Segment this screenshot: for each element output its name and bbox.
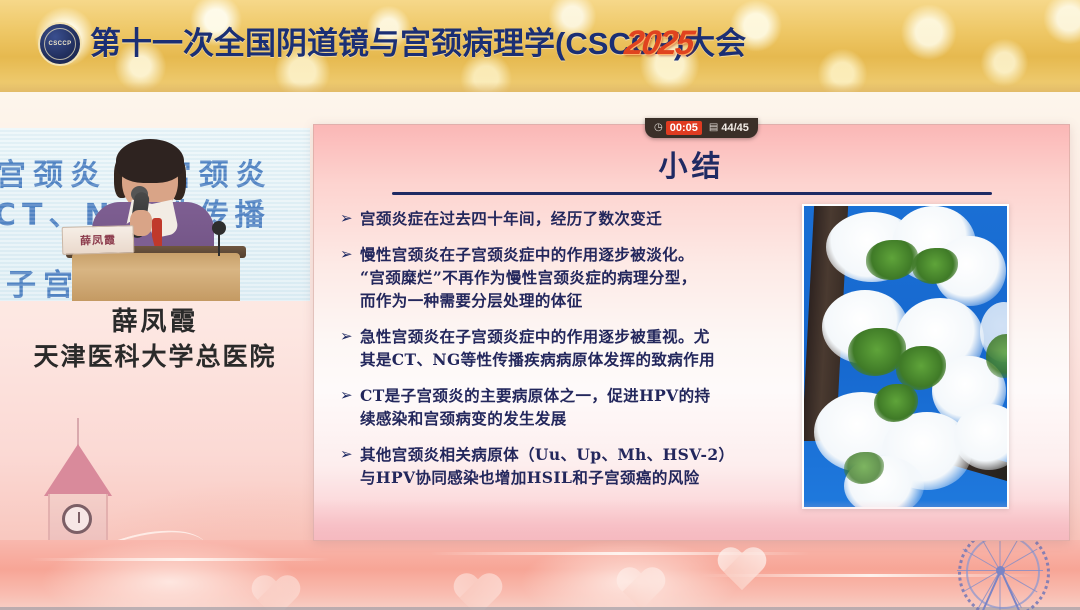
conference-banner: CSCCP 第十一次全国阴道镜与宫颈病理学(CSCCP)大会 2025 <box>0 0 1080 92</box>
csccp-logo-label: CSCCP <box>44 28 76 60</box>
bullet-text: 慢性宫颈炎在子宫颈炎症中的作用逐步被淡化。 “宫颈糜烂”不再作为慢性宫颈炎症的病… <box>360 243 788 312</box>
slide-bullet-list: ➢ 宫颈炎症在过去四十年间，经历了数次变迁 ➢ 慢性宫颈炎在子宫颈炎症中的作用逐… <box>340 207 788 502</box>
page-counter-group: ▤ 44/45 <box>709 122 749 134</box>
speaker-organization: 天津医科大学总医院 <box>0 339 310 375</box>
list-item: ➢ 宫颈炎症在过去四十年间，经历了数次变迁 <box>340 207 788 230</box>
tower-roof <box>44 444 112 496</box>
csccp-logo-icon: CSCCP <box>38 22 82 66</box>
list-item: ➢ CT是子宫颈炎的主要病原体之一，促进HPV的持 续感染和宫颈病变的发生发展 <box>340 384 788 430</box>
page-icon: ▤ <box>709 123 718 133</box>
podium <box>72 253 240 301</box>
speaker-name: 薛凤霞 <box>0 305 310 339</box>
slide-title-underline <box>392 192 992 195</box>
bullet-arrow-icon: ➢ <box>340 384 360 407</box>
bullet-text: 急性宫颈炎在子宫颈炎症中的作用逐步被重视。尤 其是CT、NG等性传播疾病病原体发… <box>360 325 788 371</box>
clock-icon: ◷ <box>654 123 663 133</box>
speaker-hair <box>116 139 184 183</box>
second-microphone-icon <box>212 221 226 235</box>
band-streak <box>30 558 330 561</box>
bullet-text: 宫颈炎症在过去四十年间，经历了数次变迁 <box>360 207 788 230</box>
heart-icon <box>716 548 768 596</box>
bullet-arrow-icon: ➢ <box>340 443 360 466</box>
tower-clock-icon <box>62 504 92 534</box>
slide-bottom-gradient <box>314 500 1069 540</box>
bullet-text: 其他宫颈炎相关病原体（Uu、Up、Mh、HSV-2） 与HPV协同感染也增加HS… <box>360 443 788 489</box>
heart-icon <box>615 568 655 604</box>
timer-group: ◷ 00:05 <box>654 121 702 135</box>
podium-nameplate: 薛凤霞 <box>62 225 135 255</box>
bullet-arrow-icon: ➢ <box>340 243 360 266</box>
screen-root: CSCCP 第十一次全国阴道镜与宫颈病理学(CSCCP)大会 2025 <box>0 0 1080 610</box>
ferris-wheel-illustration <box>932 545 1062 610</box>
heart-icon <box>452 574 486 604</box>
player-status-badge[interactable]: ◷ 00:05 ▤ 44/45 <box>645 118 758 138</box>
slide-photo-flowering-tree <box>802 204 1009 509</box>
timer-value: 00:05 <box>666 121 702 135</box>
list-item: ➢ 急性宫颈炎在子宫颈炎症中的作用逐步被重视。尤 其是CT、NG等性传播疾病病原… <box>340 325 788 371</box>
slide-title: 小结 <box>314 143 1069 185</box>
ferris-spoke <box>1000 570 1043 571</box>
bullet-arrow-icon: ➢ <box>340 325 360 348</box>
bottom-decorative-band <box>0 540 1080 610</box>
list-item: ➢ 慢性宫颈炎在子宫颈炎症中的作用逐步被淡化。 “宫颈糜烂”不再作为慢性宫颈炎症… <box>340 243 788 312</box>
list-item: ➢ 其他宫颈炎相关病原体（Uu、Up、Mh、HSV-2） 与HPV协同感染也增加… <box>340 443 788 489</box>
heart-icon <box>250 576 280 604</box>
ferris-spoke <box>957 570 1000 571</box>
presentation-slide[interactable]: 小结 ➢ 宫颈炎症在过去四十年间，经历了数次变迁 ➢ 慢性宫颈炎在子宫颈炎症中的… <box>313 124 1070 541</box>
conference-year: 2025 <box>621 18 696 68</box>
bullet-text: CT是子宫颈炎的主要病原体之一，促进HPV的持 续感染和宫颈病变的发生发展 <box>360 384 788 430</box>
speaker-video-feed[interactable]: 宫颈炎 子宫颈炎 CT、NG 性传播 子宫 要症 薛凤霞 <box>0 128 310 301</box>
page-counter-value: 44/45 <box>721 122 749 134</box>
ferris-spoke <box>1000 571 1001 610</box>
bullet-arrow-icon: ➢ <box>340 207 360 230</box>
speaker-caption: 薛凤霞 天津医科大学总医院 <box>0 305 310 375</box>
